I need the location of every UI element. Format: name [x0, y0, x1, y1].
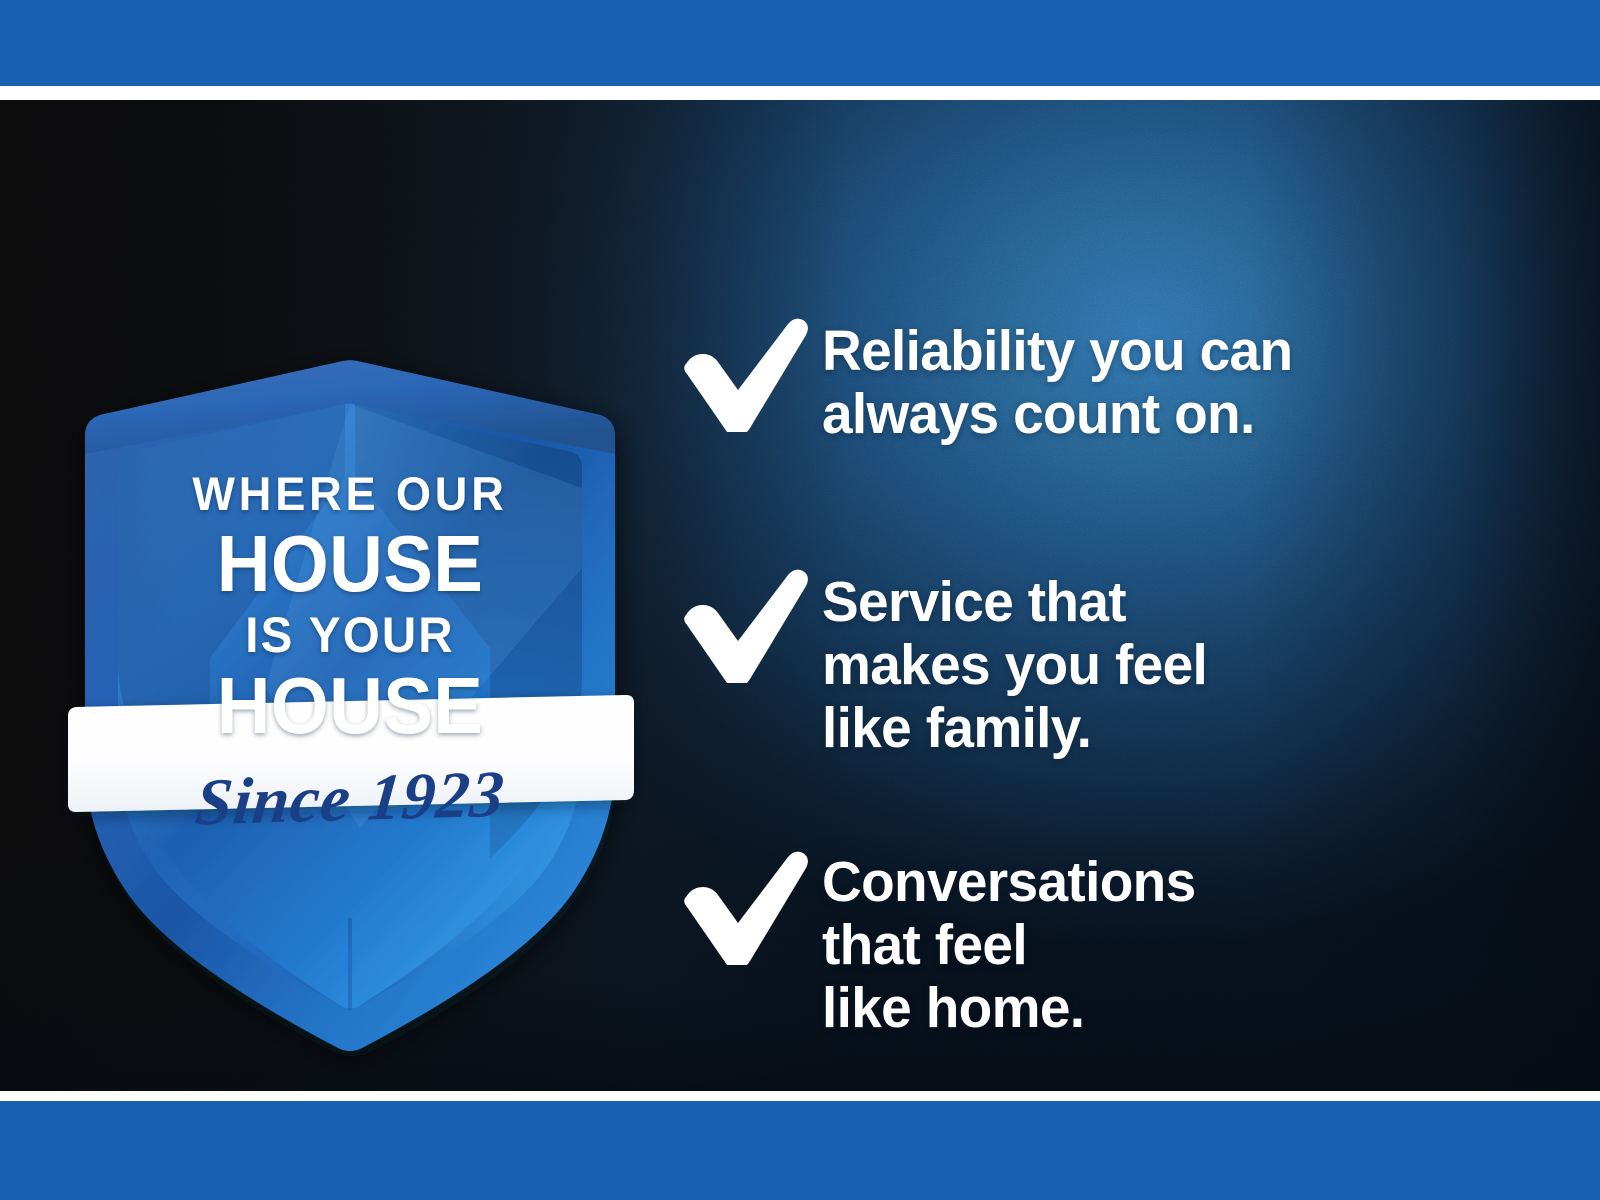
benefit-1-line-2: always count on.: [822, 382, 1255, 446]
benefit-item-2: Service that makes you feel like family.: [672, 557, 1502, 759]
benefit-3-line-3: like home.: [822, 976, 1084, 1040]
benefit-text-1: Reliability you can always count on.: [822, 320, 1292, 445]
benefit-item-3: Conversations that feel like home.: [672, 839, 1502, 1039]
benefits-list: Reliability you can always count on. Ser…: [672, 306, 1502, 1040]
benefit-2-line-1: Service that: [822, 570, 1126, 634]
shield-center-crease: [348, 918, 352, 1010]
checkmark-icon: [672, 563, 822, 683]
top-brand-bar: [0, 0, 1600, 86]
benefit-2-line-3: like family.: [822, 696, 1091, 760]
checkmark-icon: [672, 845, 822, 965]
benefit-3-line-2: that feel: [822, 913, 1027, 977]
benefit-text-2: Service that makes you feel like family.: [822, 571, 1207, 759]
benefit-1-line-1: Reliability you can: [822, 319, 1292, 383]
badge-line-is-your: IS YOUR: [75, 610, 626, 660]
badge-line-where-our: WHERE OUR: [72, 470, 629, 517]
benefit-2-line-2: makes you feel: [822, 633, 1207, 697]
badge-line-house-1: HOUSE: [80, 524, 619, 604]
benefit-3-line-1: Conversations: [822, 850, 1196, 914]
promo-graphic: WHERE OUR HOUSE IS YOUR HOUSE Since 1923…: [0, 0, 1600, 1200]
main-panel: WHERE OUR HOUSE IS YOUR HOUSE Since 1923…: [0, 100, 1600, 1091]
benefit-text-3: Conversations that feel like home.: [822, 851, 1196, 1039]
checkmark-icon: [672, 312, 822, 432]
shield-badge: WHERE OUR HOUSE IS YOUR HOUSE Since 1923: [60, 358, 640, 1058]
badge-line-house-2: HOUSE: [80, 666, 619, 746]
bottom-brand-bar: [0, 1101, 1600, 1200]
benefit-item-1: Reliability you can always count on.: [672, 306, 1502, 445]
